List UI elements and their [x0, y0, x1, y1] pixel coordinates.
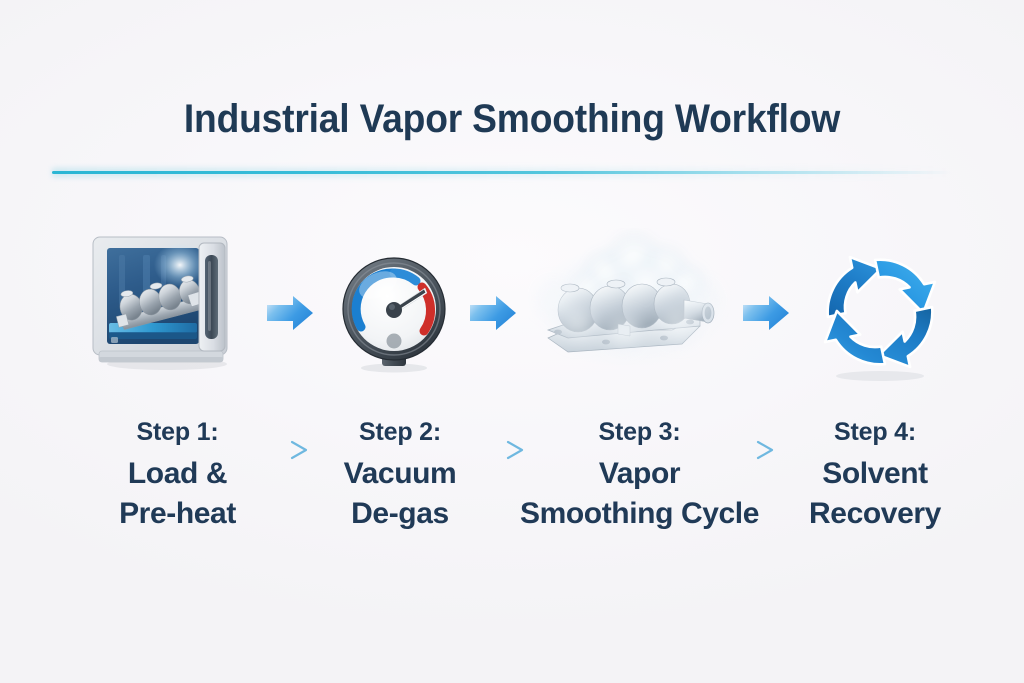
step-3-line1: Vapor — [512, 459, 767, 489]
step-4-line2: Recovery — [775, 499, 975, 529]
block-arrow-2-to-3 — [468, 292, 518, 339]
step-2-line1: Vacuum — [300, 459, 500, 489]
step-1-head: Step 1: — [70, 420, 285, 445]
pressure-gauge-icon — [338, 255, 451, 373]
oven-chamber-icon — [85, 231, 250, 371]
step-1-line1: Load & — [70, 459, 285, 489]
vapor-cloud-part-icon — [528, 228, 733, 376]
block-arrow-3-to-4 — [741, 292, 791, 339]
step-1-line2: Pre-heat — [70, 499, 285, 529]
block-arrow-1-to-2 — [265, 292, 315, 339]
step-3-line2: Smoothing Cycle — [512, 499, 767, 529]
step-label-1: Step 1: Load & Pre-heat — [70, 420, 285, 529]
step-label-2: Step 2: Vacuum De-gas — [300, 420, 500, 529]
title-divider — [52, 171, 952, 174]
step-4-line1: Solvent — [775, 459, 975, 489]
step-4-head: Step 4: — [775, 420, 975, 445]
recycle-arrows-icon — [800, 248, 960, 383]
step-label-3: Step 3: Vapor Smoothing Cycle — [512, 420, 767, 529]
diagram-canvas: Industrial Vapor Smoothing Workflow — [0, 0, 1024, 683]
step-3-head: Step 3: — [512, 420, 767, 445]
step-2-line2: De-gas — [300, 499, 500, 529]
page-title: Industrial Vapor Smoothing Workflow — [36, 97, 988, 142]
step-2-head: Step 2: — [300, 420, 500, 445]
step-label-4: Step 4: Solvent Recovery — [775, 420, 975, 529]
